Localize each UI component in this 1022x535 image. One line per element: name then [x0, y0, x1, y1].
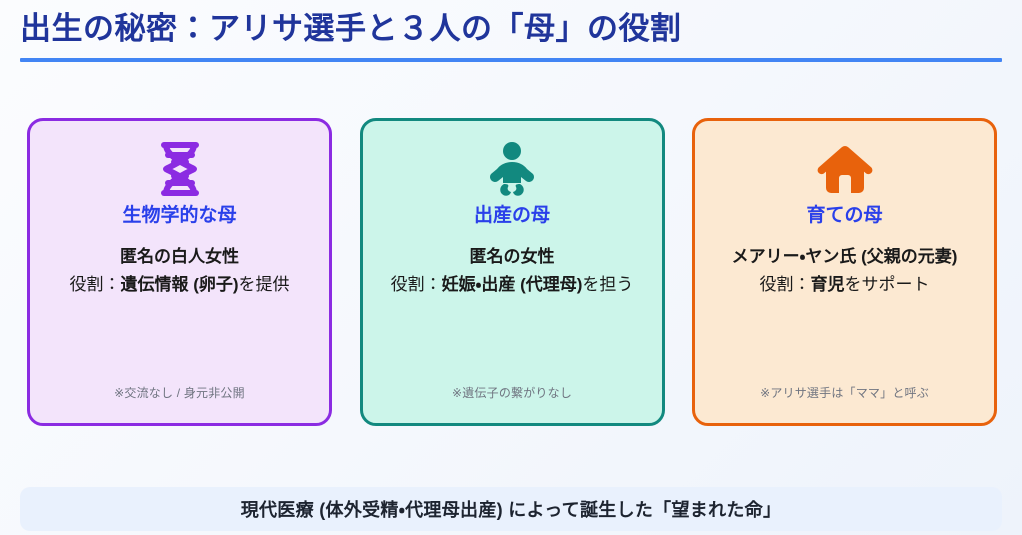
card-birth-mother[interactable]: 出産の母 匿名の女性 役割：妊娠・出産 (代理母)を担う ※遺伝子の繋がりなし — [360, 118, 665, 426]
card-person-birth: 匿名の女性 — [391, 244, 634, 270]
role-prefix: 役割： — [759, 275, 810, 294]
card-person-nurturing: メアリー・ヤン氏 (父親の元妻) — [732, 244, 958, 270]
card-note-birth: ※遺伝子の繋がりなし — [363, 384, 662, 401]
role-suffix: を提供 — [239, 275, 290, 294]
role-emphasis: 育児 — [810, 275, 844, 294]
summary-banner: 現代医療 (体外受精・代理母出産) によって誕生した「望まれた命」 — [20, 487, 1002, 531]
card-note-nurturing: ※アリサ選手は「ママ」と呼ぶ — [695, 384, 994, 401]
page-header: 出生の秘密：アリサ選手と３人の「母」の役割 — [20, 8, 1002, 62]
card-heading-biological: 生物学的な母 — [122, 205, 236, 228]
role-emphasis: 遺伝情報 (卵子) — [120, 275, 238, 294]
role-suffix: をサポート — [844, 275, 929, 294]
card-heading-nurturing: 育ての母 — [806, 205, 882, 228]
card-body-biological: 匿名の白人女性 役割：遺伝情報 (卵子)を提供 — [69, 244, 289, 299]
mother-role-card-row: 生物学的な母 匿名の白人女性 役割：遺伝情報 (卵子)を提供 ※交流なし / 身… — [27, 118, 997, 426]
card-body-nurturing: メアリー・ヤン氏 (父親の元妻) 役割：育児をサポート — [732, 244, 958, 299]
home-icon — [815, 139, 875, 199]
card-role-birth: 役割：妊娠・出産 (代理母)を担う — [391, 272, 634, 298]
card-person-biological: 匿名の白人女性 — [69, 244, 289, 270]
baby-icon — [484, 139, 540, 199]
card-role-nurturing: 役割：育児をサポート — [732, 272, 958, 298]
dna-icon — [152, 139, 208, 199]
summary-text: 現代医療 (体外受精・代理母出産) によって誕生した「望まれた命」 — [241, 496, 782, 522]
card-biological-mother[interactable]: 生物学的な母 匿名の白人女性 役割：遺伝情報 (卵子)を提供 ※交流なし / 身… — [27, 118, 332, 426]
role-prefix: 役割： — [69, 275, 120, 294]
card-heading-birth: 出産の母 — [474, 205, 550, 228]
page-title: 出生の秘密：アリサ選手と３人の「母」の役割 — [20, 8, 1002, 50]
role-emphasis: 妊娠・出産 (代理母) — [442, 275, 583, 294]
card-note-biological: ※交流なし / 身元非公開 — [30, 384, 329, 401]
person-relation: (父親の元妻) — [856, 247, 957, 266]
card-nurturing-mother[interactable]: 育ての母 メアリー・ヤン氏 (父親の元妻) 役割：育児をサポート ※アリサ選手は… — [692, 118, 997, 426]
person-name: メアリー・ヤン氏 — [732, 247, 857, 266]
title-divider — [20, 58, 1002, 62]
card-role-biological: 役割：遺伝情報 (卵子)を提供 — [69, 272, 289, 298]
role-prefix: 役割： — [391, 275, 442, 294]
card-body-birth: 匿名の女性 役割：妊娠・出産 (代理母)を担う — [391, 244, 634, 299]
role-suffix: を担う — [582, 275, 633, 294]
